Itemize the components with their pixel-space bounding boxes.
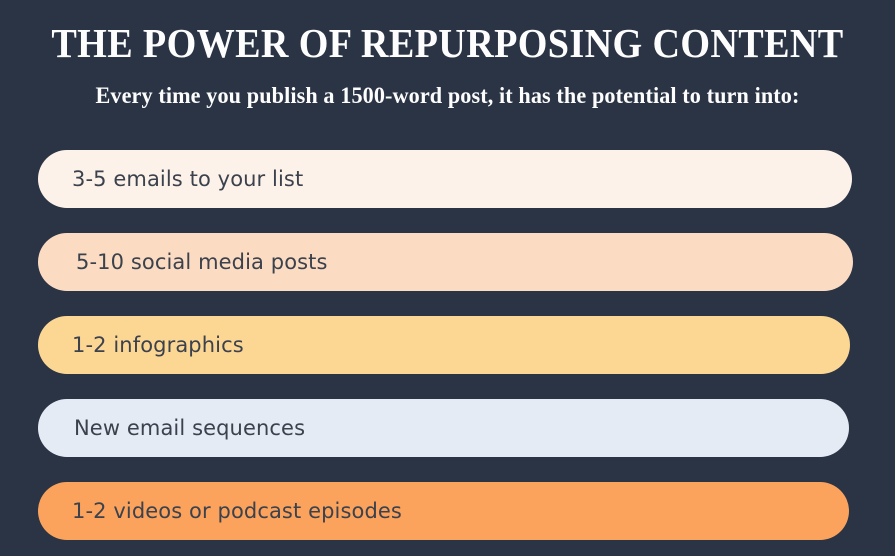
- list-item: 1-2 videos or podcast episodes: [38, 482, 849, 540]
- list-item: 5-10 social media posts: [38, 233, 853, 291]
- list-item-label: 5-10 social media posts: [76, 250, 328, 274]
- list-item-label: New email sequences: [74, 416, 305, 440]
- list-item: 1-2 infographics: [38, 316, 850, 374]
- list-item-label: 1-2 infographics: [72, 333, 244, 357]
- repurposing-content-infographic: THE POWER OF REPURPOSING CONTENT Every t…: [0, 0, 895, 556]
- repurposing-output-list: 3-5 emails to your list 5-10 social medi…: [0, 150, 895, 550]
- list-item: 3-5 emails to your list: [38, 150, 852, 208]
- list-item-label: 3-5 emails to your list: [72, 167, 303, 191]
- page-subtitle: Every time you publish a 1500-word post,…: [16, 81, 880, 111]
- list-item: New email sequences: [38, 399, 849, 457]
- list-item-label: 1-2 videos or podcast episodes: [72, 499, 402, 523]
- page-title: THE POWER OF REPURPOSING CONTENT: [31, 19, 863, 67]
